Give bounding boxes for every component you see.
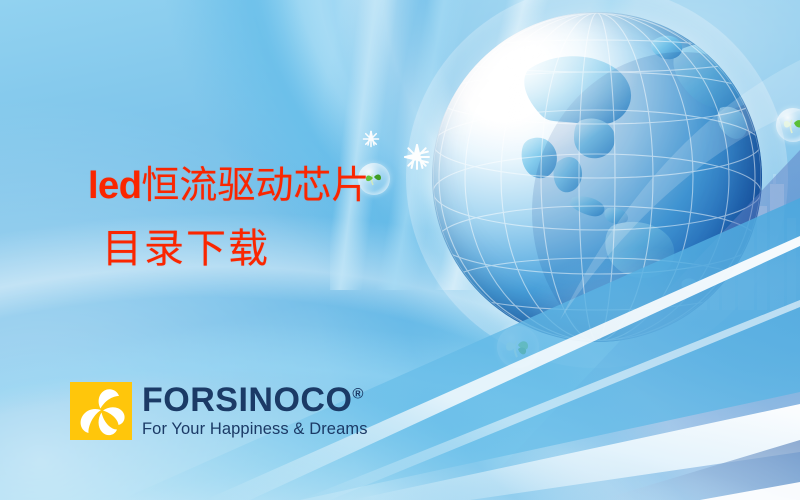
headline-text: led恒流驱动芯片 目录下载 [88,166,369,269]
sprout-icon [497,326,539,368]
promo-banner: led恒流驱动芯片 目录下载 FORSINOCO® For Your Happi… [0,0,800,500]
bubble-with-sprout-center [497,326,539,368]
logo-tagline: For Your Happiness & Dreams [142,420,368,439]
earth-globe [432,12,762,342]
globe-sphere [432,12,762,342]
sprout-icon [776,108,800,142]
headline-cjk: 恒流驱动芯片 [141,163,369,207]
logo-wordmark: FORSINOCO® [142,383,368,417]
bubble-with-sprout-top-right [776,108,800,142]
asterisk-flower-small-icon [362,130,380,148]
registered-trademark-symbol: ® [352,386,363,403]
pinwheel-flower-mark-icon [70,382,132,440]
logo-wordmark-text: FORSINOCO [142,381,352,419]
headline-line-1: led恒流驱动芯片 [88,166,369,205]
asterisk-flower-large-icon [404,144,430,170]
brand-logo: FORSINOCO® For Your Happiness & Dreams [70,382,368,440]
logo-text-block: FORSINOCO® For Your Happiness & Dreams [142,382,368,439]
headline-latin: led [88,165,141,207]
headline-line-2: 目录下载 [102,229,369,269]
globe-highlight [432,12,762,342]
